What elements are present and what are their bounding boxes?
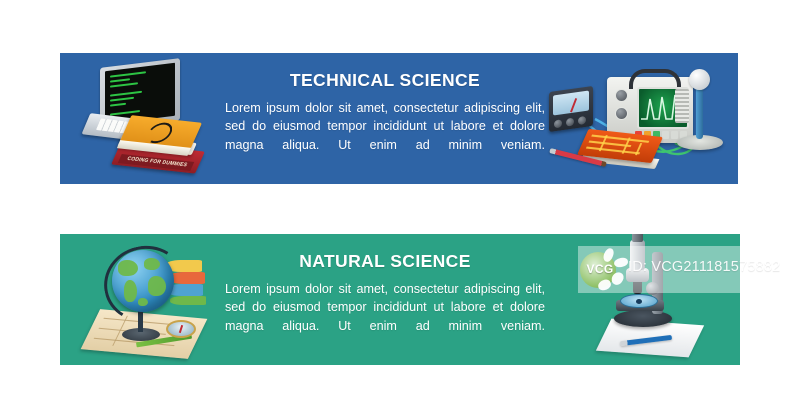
oscilloscope-knob-1 (615, 89, 628, 102)
laptop-with-books-illustration: CODING FOR DUMMIES (78, 61, 218, 179)
book-orange-top (120, 115, 202, 149)
oscilloscope-knob-2 (615, 107, 628, 120)
banner-technical-inner: CODING FOR DUMMIES TECHNICAL SCIENCE Lor… (60, 53, 738, 184)
microscope-eyepiece (632, 234, 643, 242)
banner-natural-science[interactable]: NATURAL SCIENCE Lorem ipsum dolor sit am… (60, 234, 740, 365)
technical-text-block: TECHNICAL SCIENCE Lorem ipsum dolor sit … (225, 72, 545, 154)
probe-rod (696, 87, 703, 139)
multimeter-dial-face (553, 90, 589, 115)
technical-title: TECHNICAL SCIENCE (225, 72, 545, 90)
lab-equipment-illustration (545, 59, 733, 181)
natural-body-text: Lorem ipsum dolor sit amet, consectetur … (225, 280, 545, 336)
vcg-logo: VCG (578, 248, 622, 292)
microscope-slide (620, 294, 658, 308)
microscope-objective-lens (633, 280, 642, 294)
globe-illustration (78, 238, 218, 360)
microscope-base (614, 310, 672, 327)
banner-natural-inner: NATURAL SCIENCE Lorem ipsum dolor sit am… (60, 234, 740, 365)
banner-technical-science[interactable]: CODING FOR DUMMIES TECHNICAL SCIENCE Lor… (60, 53, 738, 184)
banner-canvas: CODING FOR DUMMIES TECHNICAL SCIENCE Lor… (0, 0, 800, 416)
compass-needle (179, 325, 183, 333)
compass-disc (166, 320, 196, 338)
watermark-id-text: ID: VCG211181575882 (628, 259, 780, 275)
oscilloscope-handle (629, 69, 681, 89)
multimeter-needle (570, 98, 577, 112)
multimeter-icon (549, 86, 593, 132)
natural-text-block: NATURAL SCIENCE Lorem ipsum dolor sit am… (225, 253, 545, 335)
multimeter-knobs (554, 116, 586, 128)
microscope-specimen (636, 299, 642, 304)
microscope-focus-knob (646, 282, 659, 295)
technical-body-text: Lorem ipsum dolor sit amet, consectetur … (225, 99, 545, 155)
book-spine-text: CODING FOR DUMMIES (119, 154, 195, 171)
oscilloscope-vent (675, 89, 689, 123)
natural-title: NATURAL SCIENCE (225, 253, 545, 271)
book-swirl-icon (147, 119, 172, 146)
probe-sphere-icon (689, 69, 710, 90)
compass-icon (164, 320, 194, 338)
